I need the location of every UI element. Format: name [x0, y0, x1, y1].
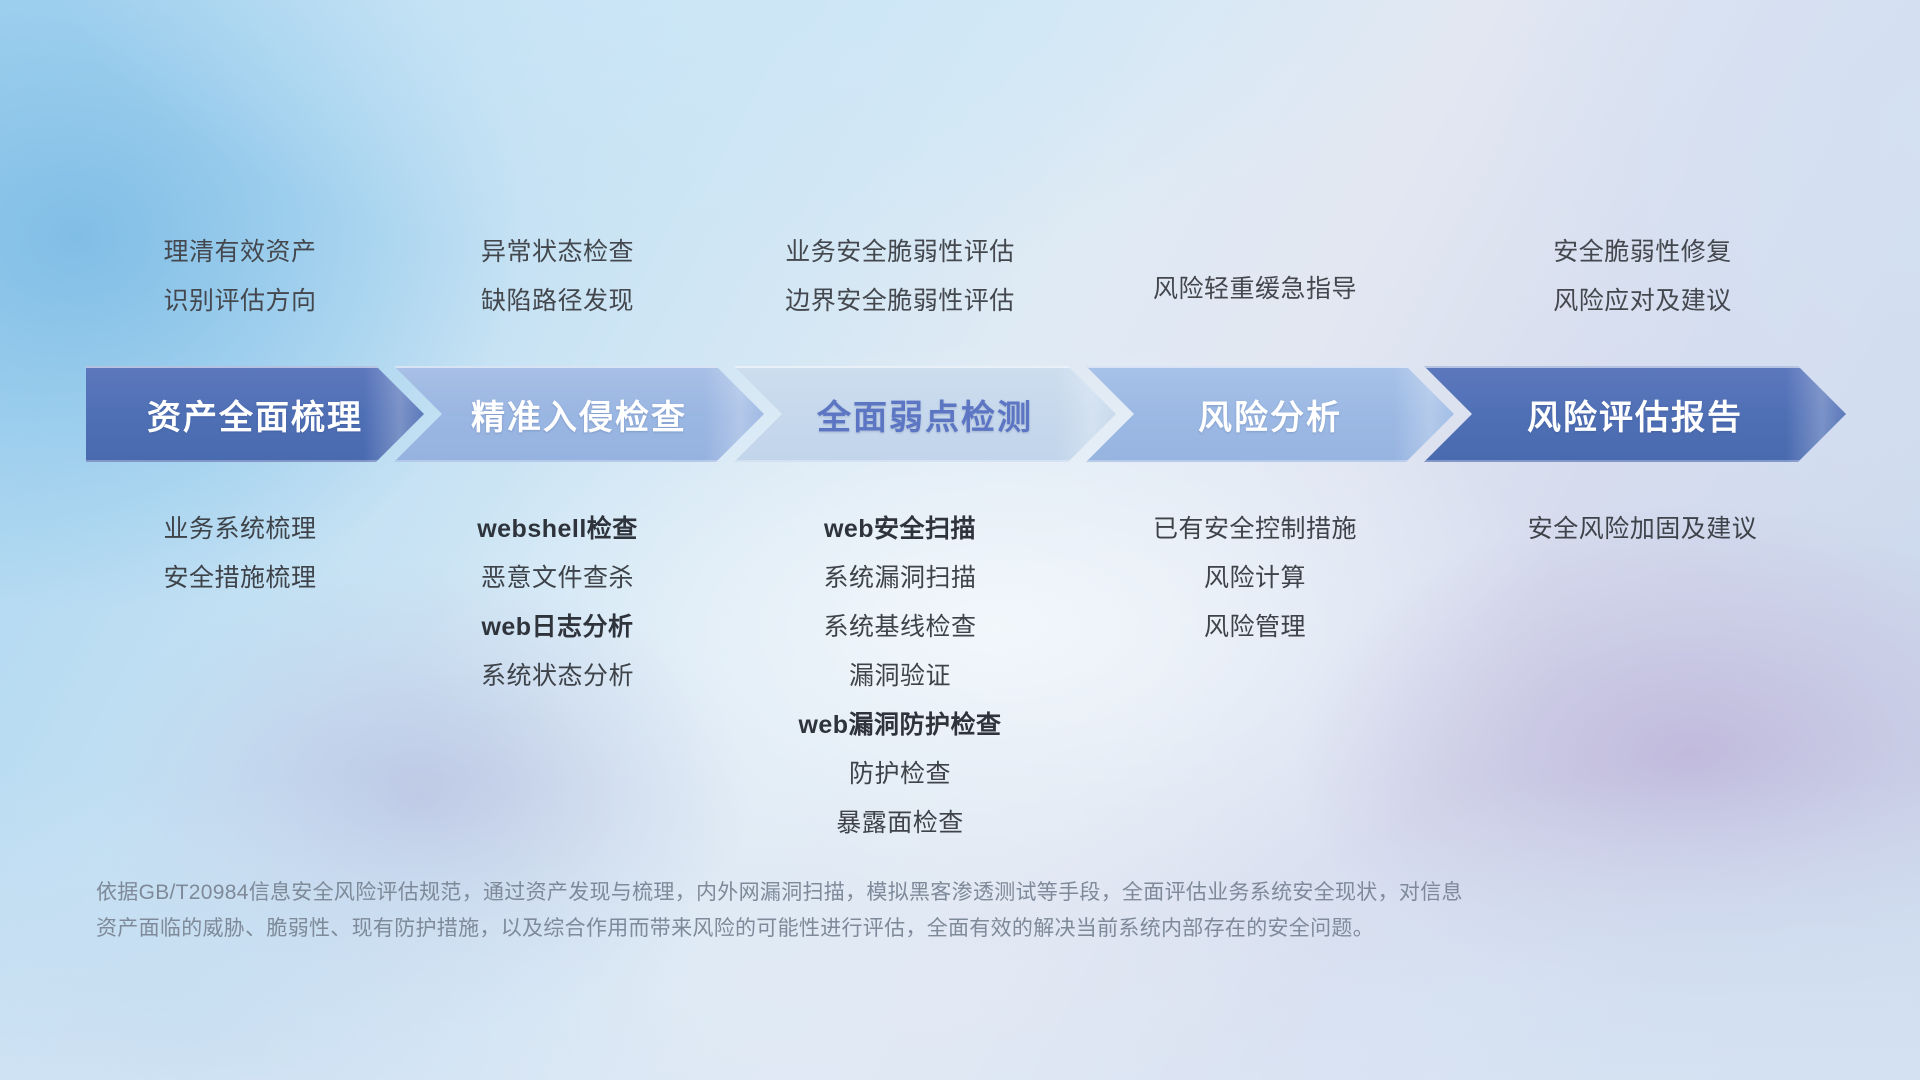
- bottom-label: 系统漏洞扫描: [823, 554, 976, 603]
- top-label: 安全脆弱性修复: [1553, 228, 1732, 277]
- top-label-row: 理清有效资产 识别评估方向 异常状态检查 缺陷路径发现 业务安全脆弱性评估 边界…: [90, 228, 1850, 326]
- chevron-asset-inventory[interactable]: 资产全面梳理: [86, 366, 424, 462]
- slide-canvas: 理清有效资产 识别评估方向 异常状态检查 缺陷路径发现 业务安全脆弱性评估 边界…: [0, 0, 1920, 1080]
- bottom-label: 防护检查: [849, 750, 951, 799]
- chevron-title: 风险评估报告: [1527, 390, 1743, 439]
- chevron-risk-analysis[interactable]: 风险分析: [1086, 366, 1454, 462]
- top-labels-assessment-report: 安全脆弱性修复 风险应对及建议: [1435, 228, 1850, 326]
- top-label: 识别评估方向: [163, 277, 316, 326]
- bottom-label: 恶意文件查杀: [481, 554, 634, 603]
- bottom-label: web安全扫描: [824, 505, 976, 554]
- bottom-labels-intrusion-check: webshell检查 恶意文件查杀 web日志分析 系统状态分析: [390, 505, 725, 701]
- bottom-label: 安全措施梳理: [163, 554, 316, 603]
- top-labels-risk-analysis: 风险轻重缓急指导: [1075, 228, 1435, 326]
- top-labels-intrusion-check: 异常状态检查 缺陷路径发现: [390, 228, 725, 326]
- top-label: 风险应对及建议: [1553, 277, 1732, 326]
- top-label: 边界安全脆弱性评估: [785, 277, 1015, 326]
- process-chevron-banner: 资产全面梳理 精准入侵检查 全面弱点检测 风险分析 风险评估报告: [86, 366, 1846, 462]
- top-label: 业务安全脆弱性评估: [785, 228, 1015, 277]
- top-label: 缺陷路径发现: [481, 277, 634, 326]
- bottom-label: web日志分析: [481, 603, 633, 652]
- top-label: 异常状态检查: [481, 228, 634, 277]
- bottom-label: 系统基线检查: [823, 603, 976, 652]
- bottom-label: 业务系统梳理: [163, 505, 316, 554]
- footer-line-2: 资产面临的威胁、脆弱性、现有防护措施，以及综合作用而带来风险的可能性进行评估，全…: [96, 911, 1716, 947]
- chevron-title: 全面弱点检测: [817, 390, 1033, 439]
- top-labels-weakness-detection: 业务安全脆弱性评估 边界安全脆弱性评估: [725, 228, 1075, 326]
- chevron-assessment-report[interactable]: 风险评估报告: [1424, 366, 1846, 462]
- chevron-title: 资产全面梳理: [147, 390, 363, 439]
- bottom-label: 已有安全控制措施: [1153, 505, 1357, 554]
- bottom-label-row: 业务系统梳理 安全措施梳理 webshell检查 恶意文件查杀 web日志分析 …: [90, 505, 1850, 848]
- footer-description: 依据GB/T20984信息安全风险评估规范，通过资产发现与梳理，内外网漏洞扫描，…: [96, 875, 1716, 947]
- chevron-title: 精准入侵检查: [471, 390, 687, 439]
- bottom-label: 安全风险加固及建议: [1528, 505, 1758, 554]
- top-labels-asset-inventory: 理清有效资产 识别评估方向: [90, 228, 390, 326]
- bottom-labels-assessment-report: 安全风险加固及建议: [1435, 505, 1850, 554]
- bottom-labels-weakness-detection: web安全扫描 系统漏洞扫描 系统基线检查 漏洞验证 web漏洞防护检查 防护检…: [725, 505, 1075, 848]
- bottom-label: 风险计算: [1204, 554, 1306, 603]
- top-label: 理清有效资产: [163, 228, 316, 277]
- bottom-labels-risk-analysis: 已有安全控制措施 风险计算 风险管理: [1075, 505, 1435, 652]
- bottom-label: 暴露面检查: [836, 799, 964, 848]
- chevron-weakness-detection[interactable]: 全面弱点检测: [734, 366, 1116, 462]
- chevron-intrusion-check[interactable]: 精准入侵检查: [394, 366, 764, 462]
- bottom-label: web漏洞防护检查: [798, 701, 1001, 750]
- bottom-label: webshell检查: [477, 505, 638, 554]
- bottom-labels-asset-inventory: 业务系统梳理 安全措施梳理: [90, 505, 390, 603]
- top-label: 风险轻重缓急指导: [1153, 265, 1357, 314]
- bottom-label: 系统状态分析: [481, 652, 634, 701]
- footer-line-1: 依据GB/T20984信息安全风险评估规范，通过资产发现与梳理，内外网漏洞扫描，…: [96, 875, 1716, 911]
- bottom-label: 漏洞验证: [849, 652, 951, 701]
- chevron-title: 风险分析: [1198, 390, 1342, 439]
- bottom-label: 风险管理: [1204, 603, 1306, 652]
- chevron-edge-sheen: [1786, 366, 1846, 462]
